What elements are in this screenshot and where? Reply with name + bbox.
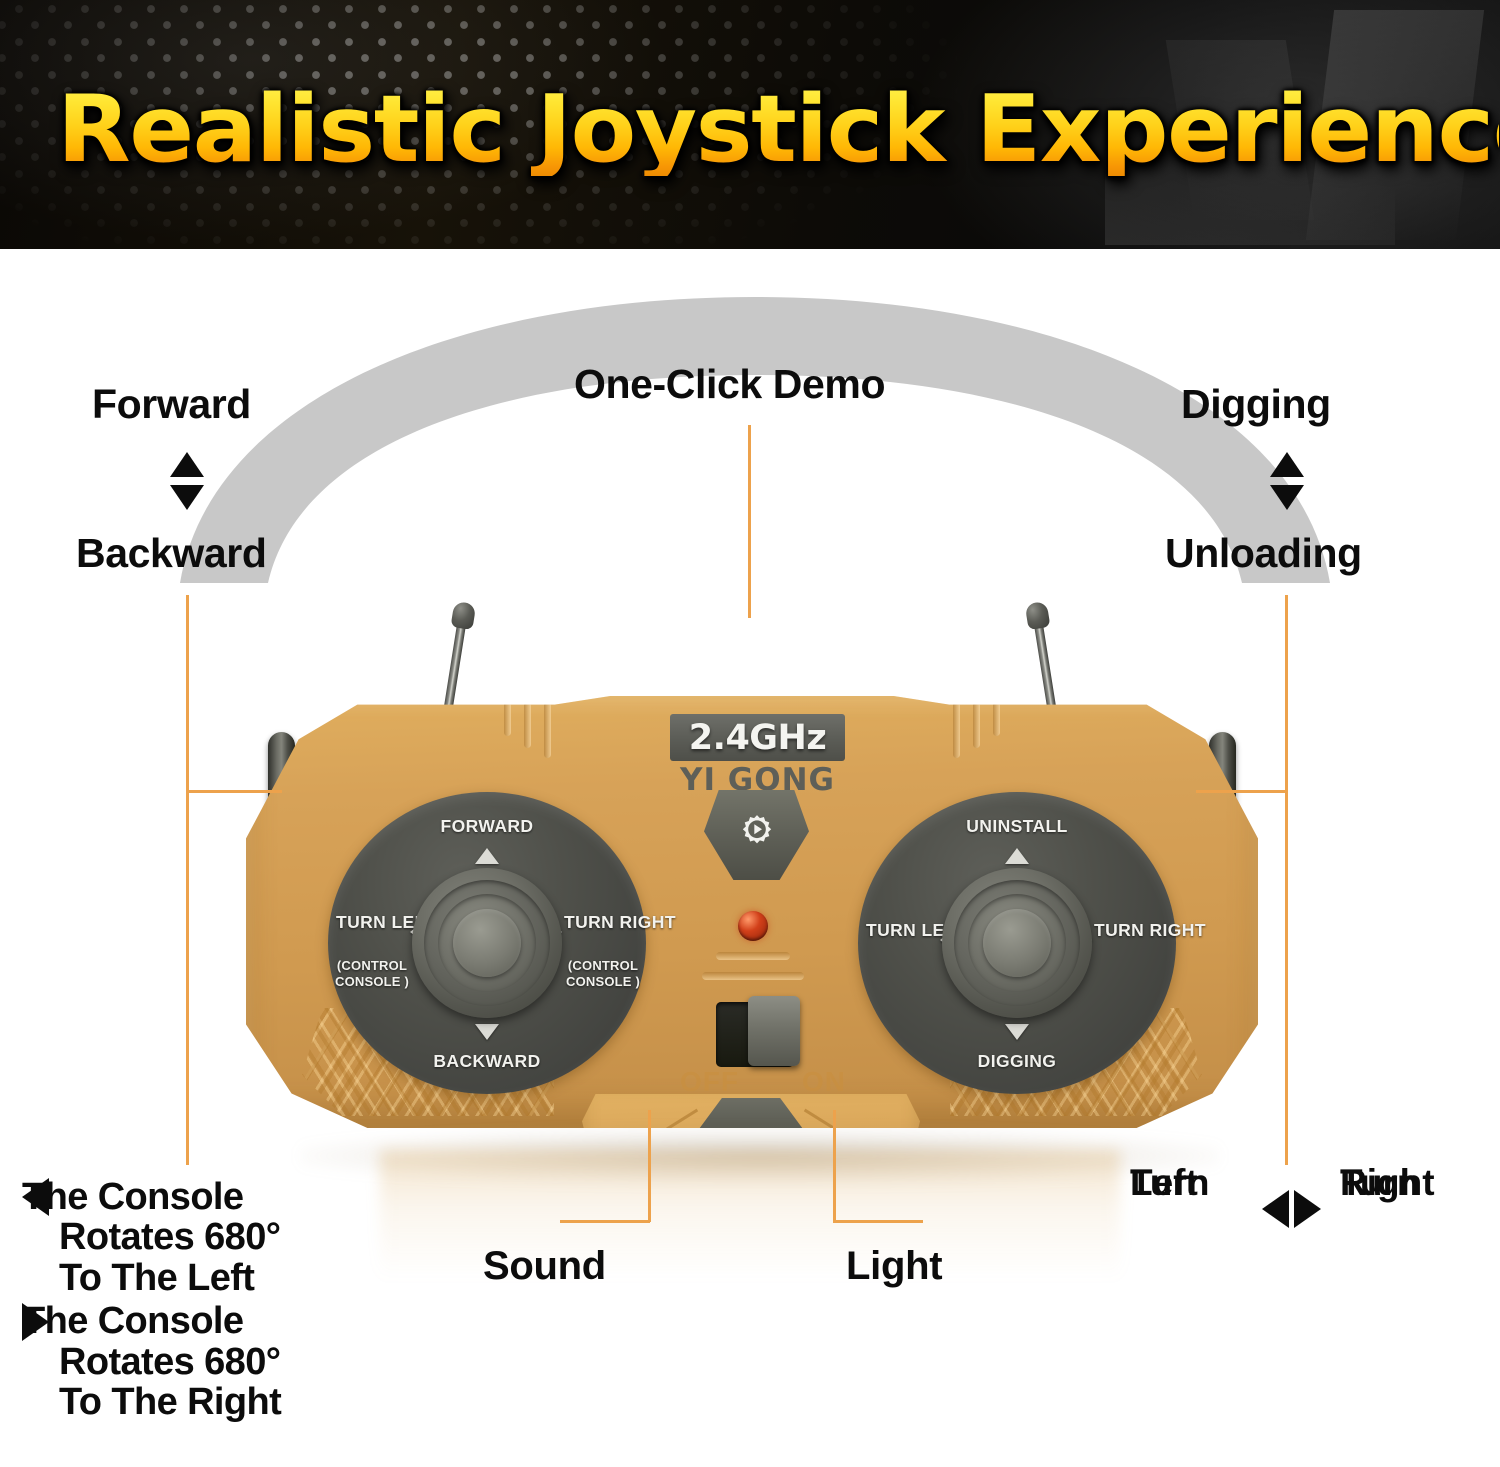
right-arrow-down-icon [1005,1024,1029,1040]
callout-arrow-down-icon [1270,485,1304,510]
antenna-left-cap [451,601,477,630]
callout-rotate-right-row: The Console [22,1303,244,1341]
callout-rotate-right-line1: The Console [22,1302,243,1341]
speaker-slot [716,952,790,960]
frequency-label: 2.4GHz [689,718,826,758]
infographic-page: Realistic Joystick Experience [0,0,1500,1467]
power-on-label: ON [802,1066,846,1098]
callout-rotate-left-line1: The Console [22,1178,243,1217]
callout-digging: Digging [1181,383,1331,426]
callout-arrow-up-icon [170,452,204,477]
callout-forward: Forward [92,383,251,426]
left-label-turn-right-line1: TURN RIGHT [564,912,638,933]
leader-line-sound [648,1110,651,1222]
left-label-turn-left-line1: TURN LEFT [336,912,408,933]
right-label-turn-right: TURN RIGHT [1094,920,1168,941]
callout-rotate-left-line3: To The Left [59,1259,281,1298]
leader-line-right-branch [1196,790,1288,793]
callout-unloading: Unloading [1165,532,1362,575]
callout-light: Light [846,1245,942,1287]
right-label-turn-left: TURN LEFT [866,920,938,941]
callout-rotate-left-line2: Rotates 680° [59,1218,281,1257]
left-arrow-down-icon [475,1024,499,1040]
antenna-right-cap [1025,601,1051,630]
speaker-slot [702,972,804,980]
left-arrow-up-icon [475,848,499,864]
right-joystick-panel[interactable]: UNINSTALL DIGGING TURN LEFT TURN RIGHT [858,792,1176,1094]
page-title: Realistic Joystick Experience [57,83,1499,176]
controller-body: 2.4GHz YI GONG FORWARD BACKWARD TURN LEF… [246,696,1258,1128]
callout-arrow-left-icon [1262,1190,1289,1228]
pod-decoration-line [804,1109,836,1130]
right-joystick-knob[interactable] [942,868,1092,1018]
callout-rotate-right-line2: Rotates 680° [59,1343,281,1382]
left-label-turn-right-sub2: CONSOLE ) [562,974,644,989]
left-joystick-knob[interactable] [412,868,562,1018]
leader-line-light-branch [833,1220,923,1223]
leader-line-left-branch [186,790,282,793]
right-knob-cap [983,909,1051,977]
callout-arrow-down-icon [170,485,204,510]
callout-turn-arrows [1262,1190,1321,1228]
body-rib [524,702,531,748]
leader-line-left-vertical [186,595,189,1165]
callout-turn-left-line2: Left [1130,1164,1198,1201]
callout-sound: Sound [483,1245,606,1287]
callout-turn-right-line2: Right [1340,1164,1435,1201]
callout-backward: Backward [76,532,267,575]
callout-arrow-up-icon [1270,452,1304,477]
leader-line-sound-branch [560,1220,650,1223]
right-label-uninstall: UNINSTALL [966,816,1067,837]
gear-play-icon [734,812,780,858]
left-label-forward: FORWARD [441,816,534,837]
body-rib [504,702,511,736]
callout-rotate-left-group: The Console Rotates 680° To The Left The… [22,1178,244,1418]
pod-decoration-line [666,1109,698,1130]
status-led-indicator [738,911,768,941]
power-off-label: OFF [680,1066,739,1098]
body-rib [953,702,960,758]
header-banner: Realistic Joystick Experience [0,0,1500,249]
leader-line-right-vertical [1285,595,1288,1165]
left-label-backward: BACKWARD [433,1051,540,1072]
callout-rotate-right-line3: To The Right [59,1383,281,1422]
body-rib [973,702,980,748]
frequency-plate: 2.4GHz [670,714,845,761]
callout-one-click-demo: One-Click Demo [574,363,885,406]
body-rib [544,702,551,758]
body-rib [993,702,1000,736]
power-switch-knob[interactable] [748,996,800,1066]
callout-arrow-right-icon [1294,1190,1321,1228]
left-knob-cap [453,909,521,977]
left-label-turn-left-sub2: CONSOLE ) [332,974,412,989]
leader-line-light [833,1110,836,1222]
one-click-demo-button[interactable] [704,790,809,880]
leader-line-top-center [748,425,751,618]
callout-rotate-left-row: The Console [22,1178,244,1216]
left-joystick-panel[interactable]: FORWARD BACKWARD TURN LEFT (CONTROL CONS… [328,792,646,1094]
left-label-turn-left-sub1: (CONTROL [332,958,412,973]
right-label-digging: DIGGING [978,1051,1057,1072]
left-label-turn-right-sub1: (CONTROL [562,958,644,973]
rc-controller: 2.4GHz YI GONG FORWARD BACKWARD TURN LEF… [246,600,1258,1180]
right-arrow-up-icon [1005,848,1029,864]
